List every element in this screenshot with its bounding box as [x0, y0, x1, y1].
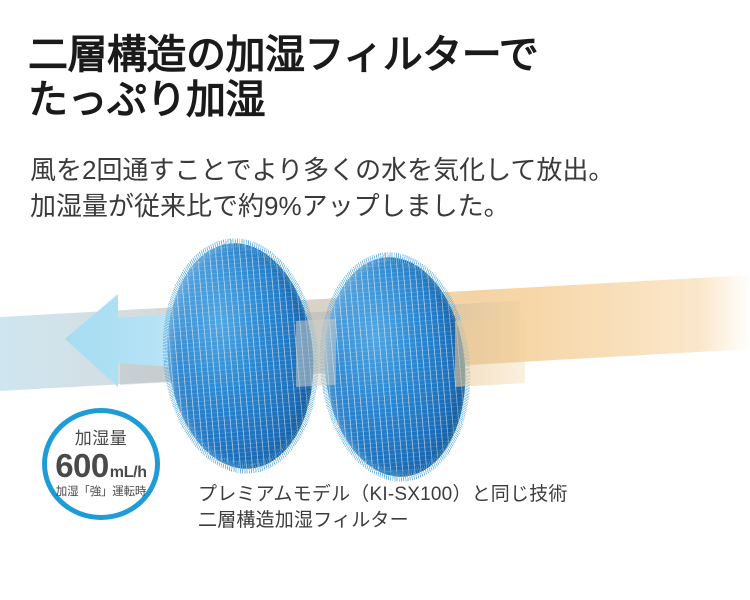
disc-body [158, 237, 322, 475]
page-title: 二層構造の加湿フィルターで たっぷり加湿 [28, 33, 718, 123]
badge-unit: mL/h [110, 464, 147, 481]
badge-value-row: 600 mL/h [55, 449, 147, 483]
humidifying-filter-disc-front-icon [168, 243, 313, 469]
badge-value: 600 [55, 449, 109, 483]
body-description: 風を2回通すことでより多くの水を気化して放出。 加湿量が従来比で約9%アップしま… [30, 152, 730, 224]
badge-title: 加湿量 [75, 429, 128, 448]
disc-body [316, 251, 475, 482]
badge-note: 加湿「強」運転時 [56, 486, 146, 499]
illustration-caption: プレミアムモデル（KI-SX100）と同じ技術 二層構造加湿フィルター [198, 482, 718, 534]
humidification-rate-badge: 加湿量 600 mL/h 加湿「強」運転時 [42, 408, 160, 520]
promo-page: 二層構造の加湿フィルターで たっぷり加湿 風を2回通すことでより多くの水を気化し… [0, 0, 750, 600]
humidifying-filter-disc-rear-icon [325, 257, 465, 477]
